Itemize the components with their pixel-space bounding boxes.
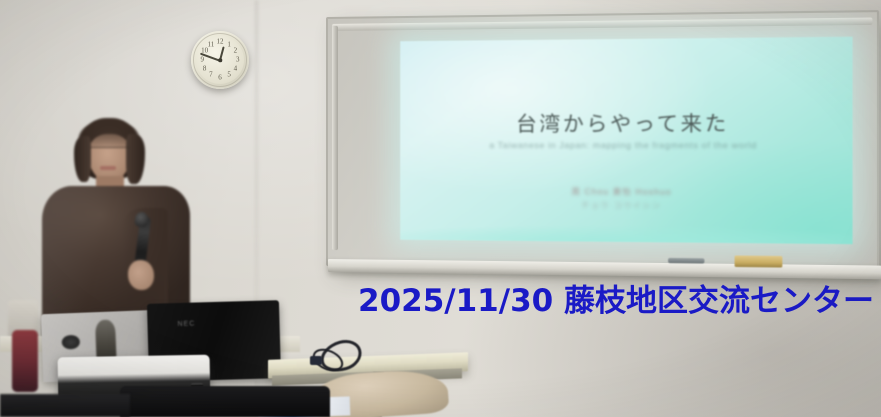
cable-plug — [310, 356, 322, 365]
foreground-object-left — [0, 394, 130, 417]
whiteboard-top-rail — [332, 18, 872, 31]
slide-subtitle: a Taiwanese in Japan: mapping the fragme… — [400, 140, 852, 151]
slide-title: 台湾からやって来た — [400, 106, 852, 137]
whiteboard-left-rail — [332, 26, 338, 250]
presenter-hair-right — [126, 134, 145, 184]
clock-numeral-6: 6 — [218, 74, 222, 81]
laptop-brand-logo: NEC — [177, 321, 195, 328]
clock-numeral-4: 4 — [234, 65, 238, 72]
clock-numeral-2: 2 — [234, 48, 238, 55]
whiteboard: 台湾からやって来た a Taiwanese in Japan: mapping … — [326, 10, 879, 273]
clock-center-pin — [218, 58, 222, 62]
clock-numeral-7: 7 — [209, 72, 213, 79]
red-object — [12, 330, 38, 392]
clock-numeral-3: 3 — [236, 57, 240, 64]
presenter-mouth — [100, 166, 116, 170]
clock-numeral-11: 11 — [208, 41, 215, 48]
foreground-object — [120, 386, 330, 417]
clock-numeral-12: 12 — [217, 39, 224, 46]
clock-numeral-9: 9 — [200, 57, 204, 64]
whiteboard-marker — [668, 258, 704, 264]
clock-face: 12 1 2 3 4 5 6 7 8 9 10 11 — [196, 36, 244, 84]
slide-bottom-glow — [400, 223, 852, 244]
presenter-hair-left — [74, 136, 91, 182]
lecture-room-photo: 12 1 2 3 4 5 6 7 8 9 10 11 台湾からやって来た a T… — [0, 0, 881, 417]
clock-numeral-5: 5 — [227, 72, 231, 79]
presenter-hand — [128, 260, 154, 290]
clock-numeral-8: 8 — [203, 65, 207, 72]
microphone-head-icon — [134, 211, 149, 227]
wall-clock: 12 1 2 3 4 5 6 7 8 9 10 11 — [191, 31, 249, 89]
presenter-glasses — [90, 147, 130, 156]
caption-overlay: 2025/11/30 藤枝地区交流センター — [358, 286, 874, 317]
whiteboard-eraser — [735, 256, 783, 268]
laptop-sticker-dark — [62, 335, 81, 350]
projected-slide: 台湾からやって来た a Taiwanese in Japan: mapping … — [400, 37, 852, 244]
clock-numeral-1: 1 — [227, 41, 231, 48]
